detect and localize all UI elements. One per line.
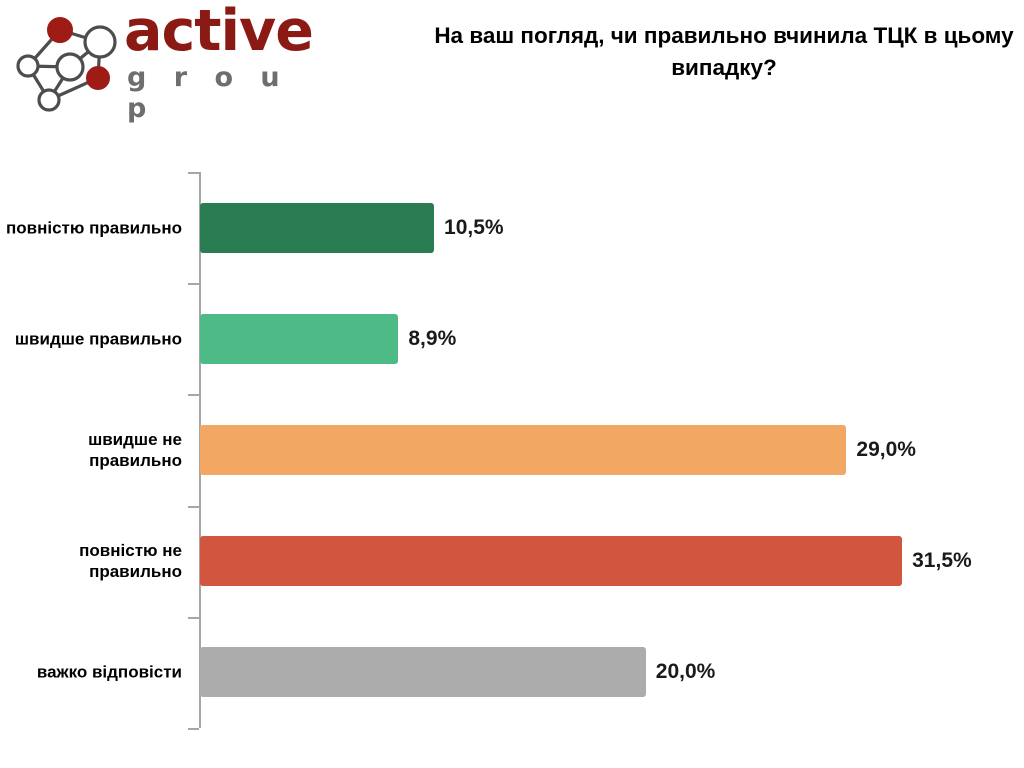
chart-page: active g r o u p На ваш погляд, чи прави… [0, 0, 1024, 768]
axis-tick [188, 728, 199, 730]
bar-row: швидше правильно8,9% [0, 314, 1024, 364]
axis-tick [188, 617, 199, 619]
axis-tick [188, 283, 199, 285]
bar-row: швидше не правильно29,0% [0, 425, 1024, 475]
bar-value-label: 10,5% [444, 216, 504, 240]
bar[interactable] [200, 536, 902, 586]
chart-plot-area: повністю правильно10,5%швидше правильно8… [0, 0, 1024, 768]
bar[interactable] [200, 647, 646, 697]
bar-row: повністю не правильно31,5% [0, 536, 1024, 586]
category-label: швидше не правильно [0, 429, 182, 472]
bar[interactable] [200, 203, 434, 253]
category-label: повністю правильно [0, 217, 182, 238]
axis-tick [188, 394, 199, 396]
axis-tick [188, 506, 199, 508]
bar-row: важко відповісти20,0% [0, 647, 1024, 697]
bar-value-label: 8,9% [408, 327, 456, 351]
bar-value-label: 29,0% [856, 438, 916, 462]
bar[interactable] [200, 425, 846, 475]
bar-row: повністю правильно10,5% [0, 203, 1024, 253]
bar[interactable] [200, 314, 398, 364]
category-label: швидше правильно [0, 328, 182, 349]
category-label: важко відповісти [0, 662, 182, 683]
category-label: повністю не правильно [0, 540, 182, 583]
axis-tick [188, 172, 199, 174]
bar-value-label: 31,5% [912, 549, 972, 573]
bar-value-label: 20,0% [656, 660, 716, 684]
